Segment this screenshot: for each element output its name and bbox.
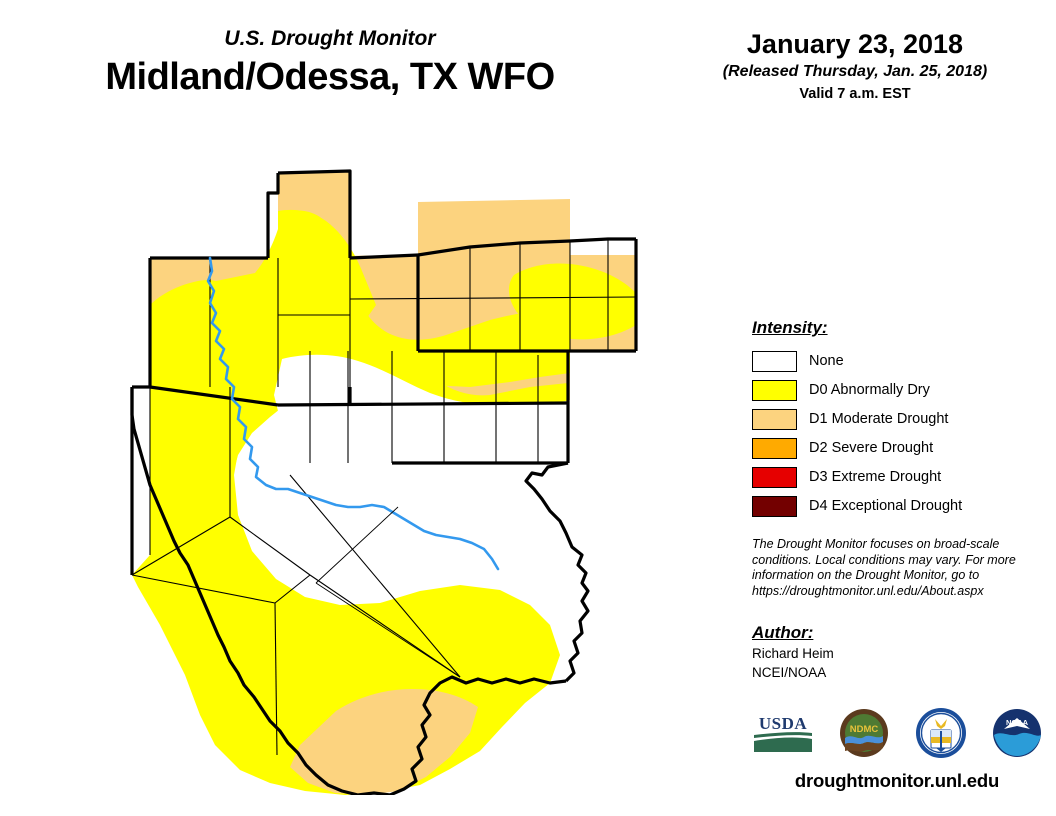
valid-date: January 23, 2018 xyxy=(690,28,1020,60)
page-title: Midland/Odessa, TX WFO xyxy=(0,54,660,100)
map-fill-layer xyxy=(132,171,636,795)
legend-label-d2: D2 Severe Drought xyxy=(809,440,933,457)
release-date: (Released Thursday, Jan. 25, 2018) xyxy=(690,61,1020,82)
legend-swatch-d4 xyxy=(752,496,797,517)
header-left-block: U.S. Drought Monitor Midland/Odessa, TX … xyxy=(0,26,660,100)
legend-row-d2: D2 Severe Drought xyxy=(752,434,1042,463)
legend-heading: Intensity: xyxy=(752,318,1042,338)
legend-row-d4: D4 Exceptional Drought xyxy=(752,492,1042,521)
valid-time: Valid 7 a.m. EST xyxy=(690,85,1020,104)
legend-row-none: None xyxy=(752,347,1042,376)
svg-text:USDA: USDA xyxy=(759,714,808,733)
page-subtitle: U.S. Drought Monitor xyxy=(0,26,660,52)
usda-logo: USDA xyxy=(752,712,814,754)
author-name: Richard Heim xyxy=(752,645,1042,662)
logo-row: USDA NDMC NOAA xyxy=(752,702,1042,764)
noaa-logo: NOAA xyxy=(992,708,1042,758)
site-url: droughtmonitor.unl.edu xyxy=(752,770,1042,792)
legend-row-d1: D1 Moderate Drought xyxy=(752,405,1042,434)
legend-swatch-d3 xyxy=(752,467,797,488)
legend-label-none: None xyxy=(809,353,844,370)
author-affiliation: NCEI/NOAA xyxy=(752,664,1042,681)
legend-label-d0: D0 Abnormally Dry xyxy=(809,382,930,399)
fill-none-east xyxy=(392,403,568,463)
legend-row-d0: D0 Abnormally Dry xyxy=(752,376,1042,405)
legend-swatch-d0 xyxy=(752,380,797,401)
unl-seal-logo xyxy=(915,707,967,759)
author-heading: Author: xyxy=(752,623,1042,643)
svg-text:NDMC: NDMC xyxy=(850,724,879,735)
legend-label-d4: D4 Exceptional Drought xyxy=(809,498,962,515)
legend-label-d1: D1 Moderate Drought xyxy=(809,411,948,428)
drought-map xyxy=(130,155,640,795)
ndmc-logo: NDMC xyxy=(839,708,889,758)
legend-row-d3: D3 Extreme Drought xyxy=(752,463,1042,492)
legend-label-d3: D3 Extreme Drought xyxy=(809,469,941,486)
legend-swatch-d1 xyxy=(752,409,797,430)
legend-swatch-d2 xyxy=(752,438,797,459)
header-right-block: January 23, 2018 (Released Thursday, Jan… xyxy=(690,28,1020,104)
legend-panel: Intensity: None D0 Abnormally Dry D1 Mod… xyxy=(752,318,1042,681)
disclaimer-text: The Drought Monitor focuses on broad-sca… xyxy=(752,537,1017,599)
legend-swatch-none xyxy=(752,351,797,372)
svg-text:NOAA: NOAA xyxy=(1006,718,1029,727)
